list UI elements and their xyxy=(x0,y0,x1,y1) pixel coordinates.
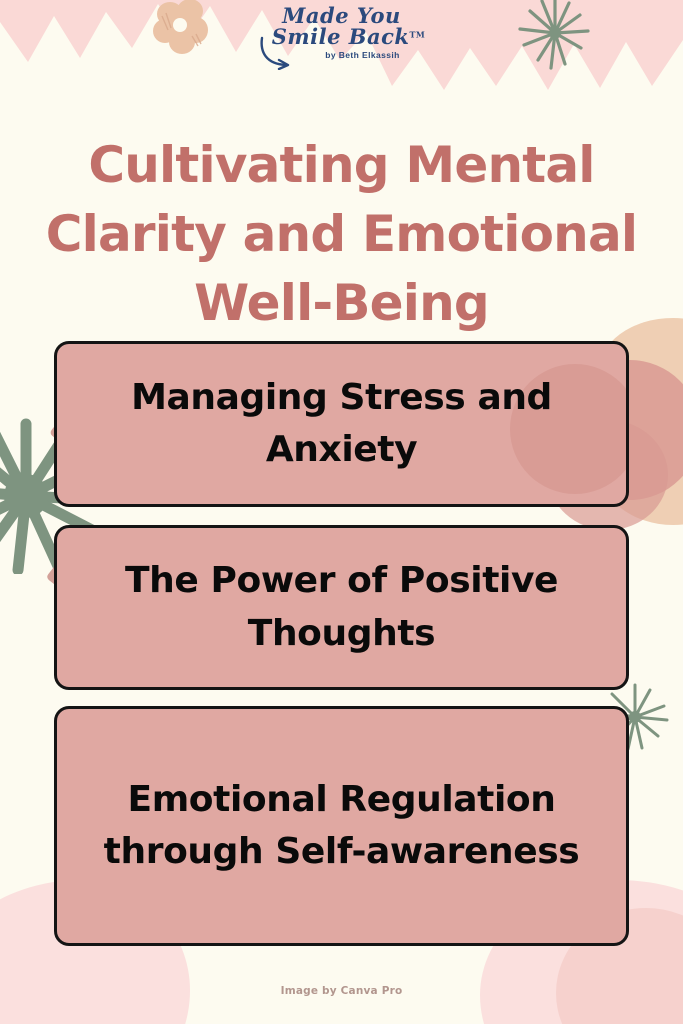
topic-card-label: The Power of Positive Thoughts xyxy=(83,555,600,659)
topic-card-label: Emotional Regulation through Self-awaren… xyxy=(83,774,600,878)
logo-arrow-swoosh-icon xyxy=(258,36,304,70)
topic-card-managing-stress[interactable]: Managing Stress and Anxiety xyxy=(54,341,629,507)
topic-card-emotional-regulation[interactable]: Emotional Regulation through Self-awaren… xyxy=(54,706,629,946)
image-credit: Image by Canva Pro xyxy=(0,985,683,997)
poster-canvas: Made You Smile BackTM by Beth Elkassih C… xyxy=(0,0,683,1024)
brand-logo: Made You Smile BackTM by Beth Elkassih xyxy=(0,6,683,60)
page-title: Cultivating Mental Clarity and Emotional… xyxy=(28,131,655,338)
topic-card-list: Managing Stress and Anxiety The Power of… xyxy=(54,341,629,946)
topic-card-positive-thoughts[interactable]: The Power of Positive Thoughts xyxy=(54,525,629,690)
logo-byline: by Beth Elkassih xyxy=(325,50,399,60)
topic-card-label: Managing Stress and Anxiety xyxy=(83,372,600,476)
logo-trademark-mark: TM xyxy=(409,29,425,39)
